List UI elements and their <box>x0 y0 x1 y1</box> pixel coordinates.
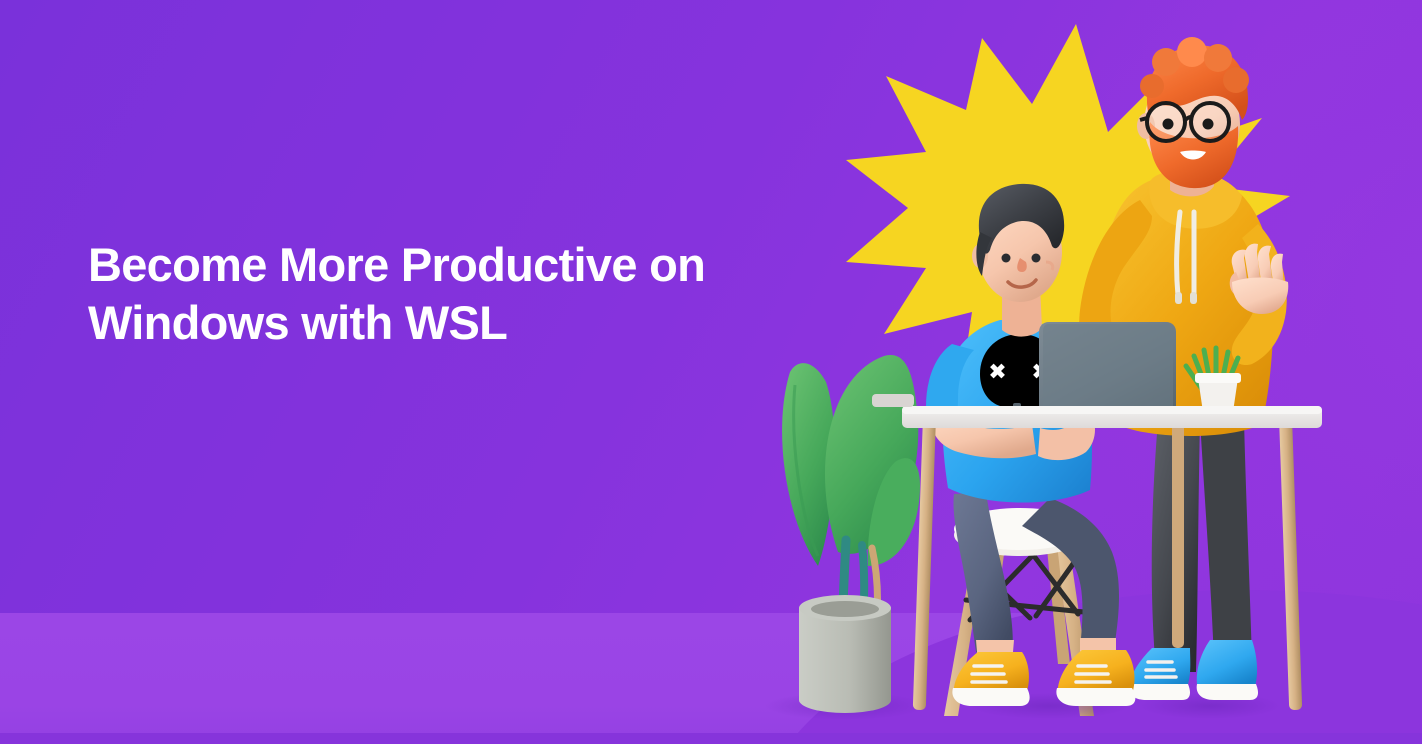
potted-plant-large <box>765 355 925 720</box>
hero-illustration <box>0 0 1422 744</box>
banner-hero: Become More Productive on Windows with W… <box>0 0 1422 744</box>
